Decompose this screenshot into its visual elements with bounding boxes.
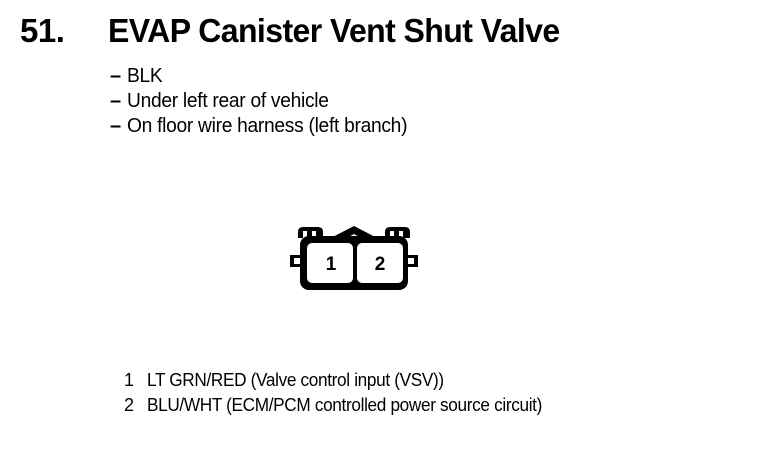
pin-legend: 1 LT GRN/RED (Valve control input (VSV))… bbox=[124, 368, 561, 418]
list-item: – BLK bbox=[110, 64, 419, 89]
dash-icon: – bbox=[110, 114, 127, 139]
connector-diagram: 1 2 bbox=[280, 222, 430, 300]
list-item-label: Under left rear of vehicle bbox=[127, 89, 329, 114]
list-item: – On floor wire harness (left branch) bbox=[110, 114, 419, 139]
pin-number-2: 2 bbox=[375, 254, 386, 275]
description-list: – BLK – Under left rear of vehicle – On … bbox=[110, 64, 419, 139]
legend-row: 2 BLU/WHT (ECM/PCM controlled power sour… bbox=[124, 393, 561, 418]
diagram-page: 51. EVAP Canister Vent Shut Valve – BLK … bbox=[0, 0, 768, 450]
list-item-label: BLK bbox=[127, 64, 162, 89]
legend-pin-description: LT GRN/RED (Valve control input (VSV)) bbox=[147, 368, 444, 393]
legend-pin-number: 2 bbox=[124, 393, 147, 418]
pin-number-1: 1 bbox=[326, 254, 337, 275]
item-number: 51. bbox=[20, 14, 108, 47]
dash-icon: – bbox=[110, 89, 127, 114]
list-item-label: On floor wire harness (left branch) bbox=[127, 114, 407, 139]
connector-outline: 1 2 bbox=[290, 226, 418, 290]
page-header: 51. EVAP Canister Vent Shut Valve bbox=[20, 14, 574, 47]
page-title: EVAP Canister Vent Shut Valve bbox=[108, 14, 560, 47]
legend-row: 1 LT GRN/RED (Valve control input (VSV)) bbox=[124, 368, 561, 393]
list-item: – Under left rear of vehicle bbox=[110, 89, 419, 114]
legend-pin-number: 1 bbox=[124, 368, 147, 393]
legend-pin-description: BLU/WHT (ECM/PCM controlled power source… bbox=[147, 393, 542, 418]
dash-icon: – bbox=[110, 64, 127, 89]
connector-icon: 1 2 bbox=[280, 222, 430, 300]
